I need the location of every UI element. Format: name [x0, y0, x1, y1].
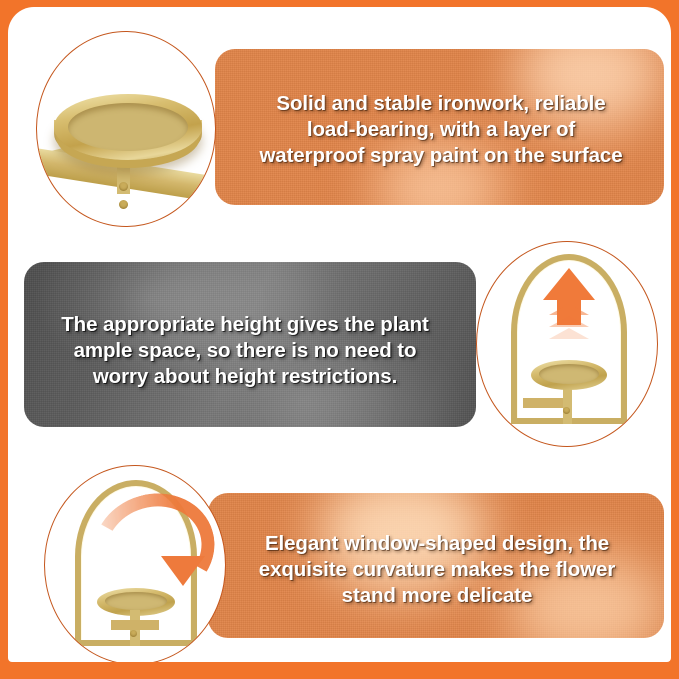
arrow-head	[161, 556, 205, 586]
arch-stand-up-arrow-photo	[476, 241, 658, 447]
infographic-orange-border: Solid and stable ironwork, reliable load…	[0, 0, 679, 679]
photo-stage	[477, 242, 657, 446]
photo-stage	[37, 32, 215, 226]
rivet-icon	[130, 630, 137, 637]
feature-text-ironwork: Solid and stable ironwork, reliable load…	[226, 91, 656, 169]
photo-stage	[45, 466, 225, 662]
chevron-icon	[549, 328, 589, 339]
rivet-icon	[563, 407, 570, 414]
chevron-icon	[549, 304, 589, 315]
tray-surface	[539, 364, 599, 384]
tray-stem	[563, 384, 572, 424]
rivet-icon	[119, 182, 128, 191]
tray-surface	[105, 592, 167, 610]
chevron-icon	[549, 316, 589, 327]
arrow-head	[543, 268, 595, 300]
tray-surface	[68, 103, 188, 151]
feature-text-design: Elegant window-shaped design, the exquis…	[220, 531, 654, 609]
gold-tray-closeup-photo	[36, 31, 216, 227]
infographic-canvas: Solid and stable ironwork, reliable load…	[8, 7, 671, 662]
rivet-icon	[119, 200, 128, 209]
feature-text-height: The appropriate height gives the plant a…	[30, 312, 460, 390]
curved-arrow-icon	[93, 494, 189, 576]
arch-stand-curve-arrow-photo	[44, 465, 226, 662]
wall-bracket	[111, 620, 159, 630]
